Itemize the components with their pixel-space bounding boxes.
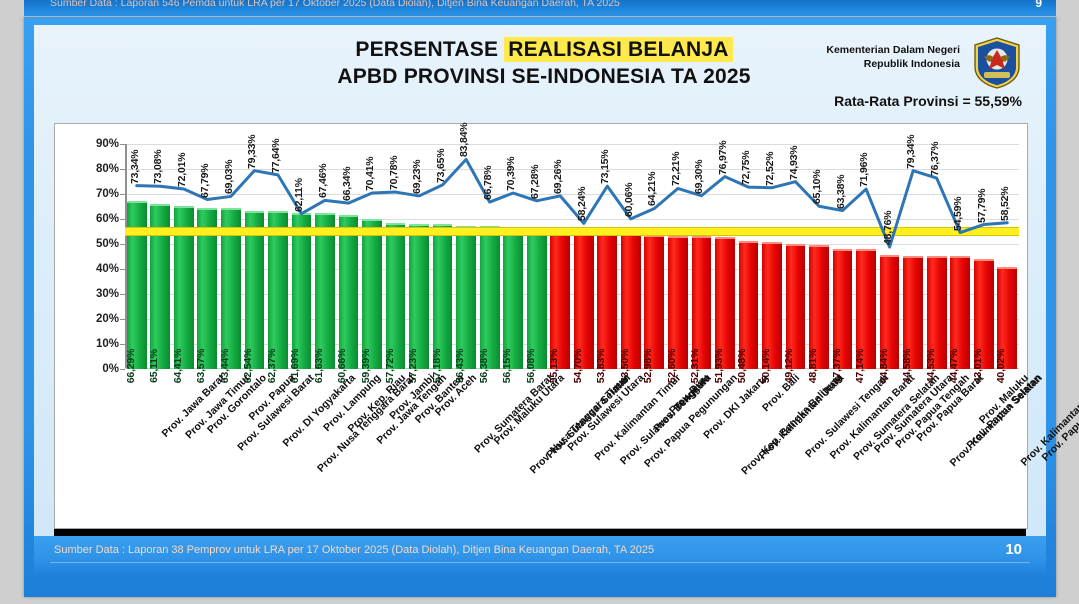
garuda-crest-icon [972, 37, 1022, 89]
footer-page-number: 10 [1005, 541, 1022, 558]
revenue-point-label: 65,10% [811, 170, 823, 204]
y-axis-tick-label: 90% [96, 138, 119, 150]
revenue-point-label: 74,93% [788, 145, 800, 179]
y-axis-tick-label: 30% [96, 288, 119, 300]
slide-content: PERSENTASE REALISASI BELANJA APBD PROVIN… [34, 25, 1046, 576]
previous-slide-source-note: Sumber Data : Laporan 546 Pemda untuk LR… [50, 0, 620, 9]
y-axis-tick-label: 80% [96, 163, 119, 175]
revenue-point-label: 60,06% [623, 182, 635, 216]
revenue-point-label: 69,03% [223, 160, 235, 194]
revenue-point-label: 48,76% [882, 211, 894, 245]
revenue-point-label: 83,84% [458, 123, 470, 157]
revenue-point-label: 70,41% [364, 157, 376, 191]
revenue-point-label: 73,15% [599, 150, 611, 184]
revenue-point-label: 76,97% [717, 140, 729, 174]
revenue-point-label: 72,21% [670, 152, 682, 186]
title-line-2: APBD PROVINSI SE-INDONESIA TA 2025 [334, 63, 754, 91]
y-axis-tick-label: 10% [96, 338, 119, 350]
revenue-point-label: 73,65% [435, 148, 447, 182]
average-province-label: Rata-Rata Provinsi = 55,59% [834, 93, 1022, 109]
title-prefix: PERSENTASE [355, 38, 504, 61]
revenue-point-label: 69,26% [552, 159, 564, 193]
revenue-point-label: 67,79% [199, 163, 211, 197]
revenue-point-label: 77,64% [270, 138, 282, 172]
previous-slide-page-number: 9 [1035, 0, 1042, 10]
revenue-point-label: 64,21% [646, 172, 658, 206]
y-axis-tick-label: 50% [96, 238, 119, 250]
ministry-line-2: Republik Indonesia [826, 57, 960, 71]
revenue-point-label: 70,78% [388, 156, 400, 190]
revenue-point-label: 79,34% [905, 134, 917, 168]
previous-slide-sliver: Sumber Data : Laporan 546 Pemda untuk LR… [24, 0, 1056, 16]
revenue-point-label: 66,78% [482, 166, 494, 200]
x-axis-label[interactable]: Prov. Sumatera Barat [472, 372, 555, 455]
revenue-point-label: 69,30% [693, 159, 705, 193]
ministry-name: Kementerian Dalam Negeri Republik Indone… [826, 43, 960, 71]
revenue-point-label: 67,28% [529, 164, 541, 198]
revenue-point-label: 62,11% [293, 178, 305, 212]
slide-screen: Sumber Data : Laporan 546 Pemda untuk LR… [0, 0, 1079, 604]
revenue-point-label: 79,33% [246, 134, 258, 168]
page-title: PERSENTASE REALISASI BELANJA APBD PROVIN… [334, 37, 754, 91]
revenue-point-label: 73,34% [129, 149, 141, 183]
revenue-point-label: 54,59% [952, 196, 964, 230]
revenue-point-label: 58,52% [999, 186, 1011, 220]
revenue-line-path [137, 159, 1007, 247]
revenue-point-label: 57,79% [976, 188, 988, 222]
revenue-point-label: 72,01% [176, 153, 188, 187]
title-highlight: REALISASI BELANJA [504, 37, 732, 62]
chart-container: 0%10%20%30%40%50%60%70%80%90% 66,29%65,1… [54, 123, 1028, 529]
footer-source-note: Sumber Data : Laporan 38 Pemprov untuk L… [54, 544, 654, 556]
revenue-point-label: 66,34% [341, 167, 353, 201]
footer-divider [50, 562, 1030, 563]
revenue-point-label: 69,23% [411, 160, 423, 194]
ministry-line-1: Kementerian Dalam Negeri [826, 43, 960, 57]
y-axis-tick-label: 60% [96, 213, 119, 225]
y-axis-tick-label: 20% [96, 313, 119, 325]
revenue-line-series [125, 144, 1019, 369]
x-axis-label[interactable]: Prov. Maluku Utara [492, 372, 567, 447]
plot-area: 0%10%20%30%40%50%60%70%80%90% 66,29%65,1… [125, 144, 1019, 369]
x-axis-labels: Prov. Jawa BaratProv. Jawa TimurProv. Go… [125, 372, 1019, 520]
revenue-point-label: 71,96% [858, 153, 870, 187]
revenue-point-label: 73,08% [152, 150, 164, 184]
slide-footer: Sumber Data : Laporan 38 Pemprov untuk L… [34, 536, 1046, 576]
revenue-point-label: 72,52% [764, 151, 776, 185]
revenue-point-label: 67,46% [317, 164, 329, 198]
y-axis-tick-label: 70% [96, 188, 119, 200]
revenue-point-label: 76,37% [929, 142, 941, 176]
y-axis-tick-label: 40% [96, 263, 119, 275]
revenue-point-label: 58,24% [576, 187, 588, 221]
slide-header: PERSENTASE REALISASI BELANJA APBD PROVIN… [34, 25, 1046, 111]
revenue-point-label: 63,38% [835, 174, 847, 208]
revenue-point-label: 70,39% [505, 157, 517, 191]
slide: PERSENTASE REALISASI BELANJA APBD PROVIN… [24, 17, 1056, 597]
revenue-point-label: 72,75% [740, 151, 752, 185]
y-axis-tick-label: 0% [102, 363, 119, 375]
